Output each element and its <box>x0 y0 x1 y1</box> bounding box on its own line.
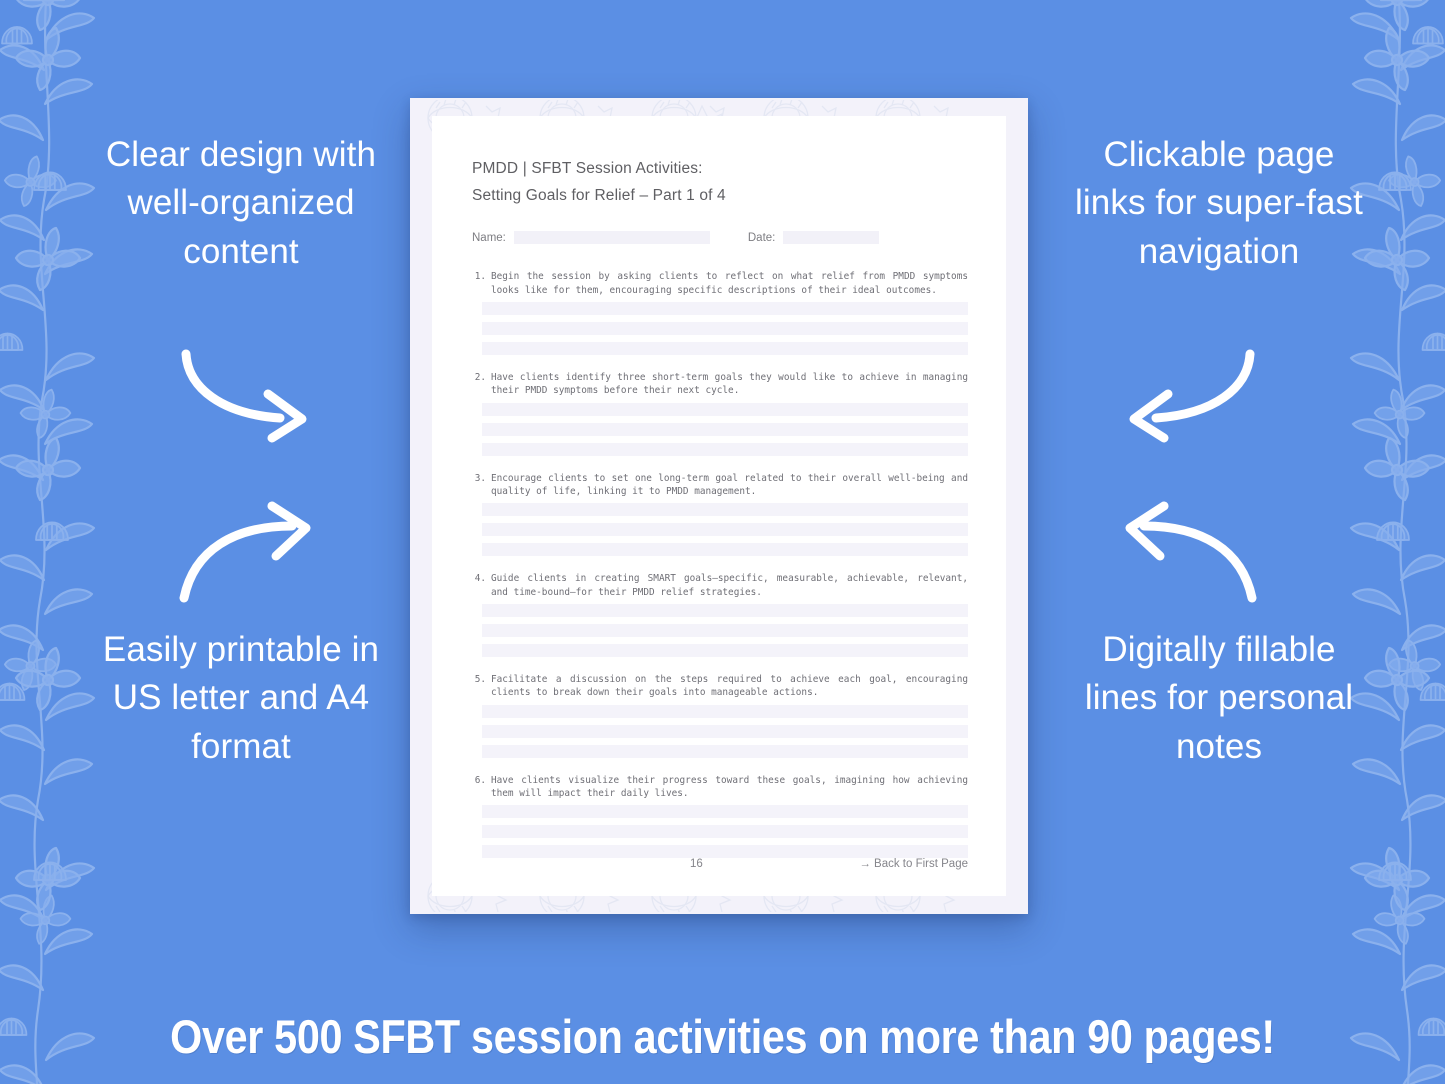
activity-item-text: Guide clients in creating SMART goals–sp… <box>491 572 968 599</box>
activity-item: 2.Have clients identify three short-term… <box>472 371 968 456</box>
answer-lines <box>472 705 968 758</box>
activity-item: 3.Encourage clients to set one long-term… <box>472 472 968 557</box>
fillable-line[interactable] <box>482 302 968 315</box>
activity-item-row: 2.Have clients identify three short-term… <box>472 371 968 398</box>
activity-item-number: 6. <box>472 774 491 801</box>
activity-list: 1.Begin the session by asking clients to… <box>472 270 968 858</box>
curved-arrow-left-icon-top-right <box>1100 348 1260 440</box>
activity-item-row: 5.Facilitate a discussion on the steps r… <box>472 673 968 700</box>
fillable-line[interactable] <box>482 624 968 637</box>
fillable-line[interactable] <box>482 423 968 436</box>
fillable-line[interactable] <box>482 825 968 838</box>
activity-item: 6.Have clients visualize their progress … <box>472 774 968 859</box>
fillable-line[interactable] <box>482 523 968 536</box>
floral-border-left <box>0 0 102 1084</box>
activity-item-text: Have clients visualize their progress to… <box>491 774 968 801</box>
activity-item: 5.Facilitate a discussion on the steps r… <box>472 673 968 758</box>
page-title: PMDD | SFBT Session Activities: Setting … <box>472 156 968 209</box>
fillable-line[interactable] <box>482 503 968 516</box>
activity-item-number: 3. <box>472 472 491 499</box>
curved-arrow-right-icon-top-left <box>176 348 336 440</box>
answer-lines <box>472 604 968 657</box>
fillable-line[interactable] <box>482 543 968 556</box>
name-input[interactable] <box>514 231 710 244</box>
activity-item-row: 6.Have clients visualize their progress … <box>472 774 968 801</box>
fillable-line[interactable] <box>482 705 968 718</box>
activity-item-number: 1. <box>472 270 491 297</box>
activity-item: 4.Guide clients in creating SMART goals–… <box>472 572 968 657</box>
activity-item-number: 5. <box>472 673 491 700</box>
fillable-line[interactable] <box>482 342 968 355</box>
activity-item-row: 4.Guide clients in creating SMART goals–… <box>472 572 968 599</box>
activity-item-text: Have clients identify three short-term g… <box>491 371 968 398</box>
back-to-first-page-link[interactable]: → Back to First Page <box>859 858 968 870</box>
activity-item-number: 2. <box>472 371 491 398</box>
fillable-line[interactable] <box>482 403 968 416</box>
promo-banner: Over 500 SFBT session activities on more… <box>87 1009 1359 1064</box>
fillable-line[interactable] <box>482 725 968 738</box>
name-date-row: Name: Date: <box>472 231 968 244</box>
activity-item-row: 1.Begin the session by asking clients to… <box>472 270 968 297</box>
fillable-line[interactable] <box>482 845 968 858</box>
worksheet-page[interactable]: PMDD | SFBT Session Activities: Setting … <box>432 116 1006 896</box>
answer-lines <box>472 403 968 456</box>
page-title-line-1: PMDD | SFBT Session Activities: <box>472 156 968 183</box>
name-label: Name: <box>472 232 506 244</box>
curved-arrow-right-icon-bottom-left <box>176 512 336 604</box>
blurb-top-left: Clear design with well-organized content <box>96 131 386 276</box>
date-label: Date: <box>748 232 776 244</box>
document-preview[interactable]: PMDD | SFBT Session Activities: Setting … <box>410 98 1028 914</box>
fillable-line[interactable] <box>482 745 968 758</box>
blurb-top-right: Clickable page links for super-fast navi… <box>1069 131 1369 276</box>
date-input[interactable] <box>783 231 879 244</box>
blurb-bottom-right: Digitally fillable lines for personal no… <box>1069 626 1369 771</box>
fillable-line[interactable] <box>482 644 968 657</box>
answer-lines <box>472 302 968 355</box>
page-title-line-2: Setting Goals for Relief – Part 1 of 4 <box>472 183 968 210</box>
fillable-line[interactable] <box>482 443 968 456</box>
activity-item-number: 4. <box>472 572 491 599</box>
fillable-line[interactable] <box>482 322 968 335</box>
page-number: 16 <box>690 858 703 870</box>
page-footer: 16 → Back to First Page <box>472 858 968 870</box>
activity-item-text: Facilitate a discussion on the steps req… <box>491 673 968 700</box>
fillable-line[interactable] <box>482 805 968 818</box>
answer-lines <box>472 805 968 858</box>
activity-item: 1.Begin the session by asking clients to… <box>472 270 968 355</box>
activity-item-text: Begin the session by asking clients to r… <box>491 270 968 297</box>
curved-arrow-left-icon-bottom-right <box>1100 512 1260 604</box>
answer-lines <box>472 503 968 556</box>
fillable-line[interactable] <box>482 604 968 617</box>
activity-item-text: Encourage clients to set one long-term g… <box>491 472 968 499</box>
activity-item-row: 3.Encourage clients to set one long-term… <box>472 472 968 499</box>
blurb-bottom-left: Easily printable in US letter and A4 for… <box>96 626 386 771</box>
